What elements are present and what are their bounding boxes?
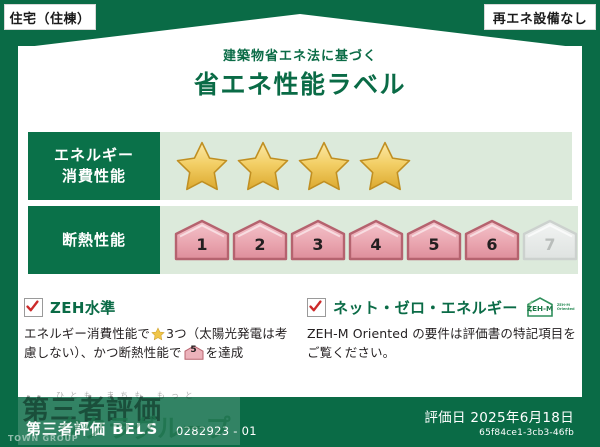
star-icon-filled: [296, 139, 352, 193]
row-label-insulation-line1: 断熱性能: [62, 230, 126, 251]
zeh-body-pre: エネルギー消費性能で: [24, 326, 150, 341]
insulation-grade-3: 3: [290, 219, 346, 261]
row-body-energy: [160, 132, 572, 200]
note-zeh-standard: ZEH水準 エネルギー消費性能で3つ（太陽光発電は考慮しない）、かつ断熱性能で5…: [24, 296, 293, 362]
renewable-energy-tag: 再エネ設備なし: [484, 4, 596, 30]
title-subtitle: 建築物省エネ法に基づく: [18, 48, 582, 66]
house-badge-inline-value: 5: [184, 341, 204, 360]
row-label-energy-line1: エネルギー: [54, 145, 134, 166]
star-icon-filled: [174, 139, 230, 193]
insulation-grade-7: 7: [522, 219, 578, 261]
insulation-grade-6: 6: [464, 219, 520, 261]
note-net-zero-energy: ネット・ゼロ・エネルギー ZEH-M ZEH-M Oriented ZEH-M …: [307, 296, 576, 362]
insulation-grade-4: 4: [348, 219, 404, 261]
insulation-grade-value: 4: [370, 235, 381, 261]
row-energy-performance: エネルギー 消費性能: [28, 132, 572, 200]
zeh-checkbox[interactable]: [24, 298, 43, 317]
note-nze-header: ネット・ゼロ・エネルギー ZEH-M ZEH-M Oriented: [307, 296, 576, 318]
zeh-body-post: を達成: [206, 345, 244, 360]
row-label-energy-line2: 消費性能: [62, 166, 126, 187]
insulation-grade-1: 1: [174, 219, 230, 261]
zeh-m-logo-caption: ZEH-M Oriented: [557, 303, 575, 312]
insulation-grade-5: 5: [406, 219, 462, 261]
star-rating: [174, 139, 413, 193]
zeh-m-logo: ZEH-M ZEH-M Oriented: [525, 296, 575, 318]
nze-body-text: ZEH-M Oriented の要件は評価書の特記項目をご覧ください。: [307, 324, 576, 362]
evaluation-date: 評価日 2025年6月18日: [424, 409, 574, 427]
row-body-insulation: 1234567: [160, 206, 578, 274]
frame-border-right: [582, 0, 600, 447]
evaluation-uuid: 65f84ce1-3cb3-46fb: [424, 427, 574, 439]
note-zeh-header: ZEH水準: [24, 296, 293, 318]
zeh-title: ZEH水準: [50, 297, 116, 318]
house-badge-inline: 5: [184, 345, 204, 360]
insulation-grade-scale: 1234567: [174, 219, 578, 261]
insulation-grade-value: 1: [196, 235, 207, 261]
star-icon-inline: [151, 327, 165, 341]
svg-text:ZEH-M: ZEH-M: [527, 304, 553, 313]
insulation-grade-value: 7: [544, 235, 555, 261]
row-insulation-performance: 断熱性能 1234567: [28, 206, 572, 274]
energy-label-card: 住宅（住棟） 再エネ設備なし 建築物省エネ法に基づく 省エネ性能ラベル エネルギ…: [0, 0, 600, 447]
zeh-m-caption-line2: Oriented: [557, 307, 575, 311]
frame-border-left: [0, 0, 18, 447]
check-icon: [25, 299, 40, 314]
star-icon-filled: [357, 139, 413, 193]
zeh-m-house-icon: ZEH-M: [525, 296, 555, 318]
star-icon-filled: [235, 139, 291, 193]
nze-title: ネット・ゼロ・エネルギー: [333, 297, 518, 318]
insulation-grade-2: 2: [232, 219, 288, 261]
label-title-block: 建築物省エネ法に基づく 省エネ性能ラベル: [18, 48, 582, 102]
insulation-grade-value: 5: [428, 235, 439, 261]
row-label-insulation: 断熱性能: [28, 206, 160, 274]
row-label-energy: エネルギー 消費性能: [28, 132, 160, 200]
bels-number: 0282923 - 01: [176, 423, 257, 439]
insulation-grade-value: 6: [486, 235, 497, 261]
nze-checkbox[interactable]: [307, 298, 326, 317]
footer-left-block: 第三者評価 BELS 0282923 - 01: [26, 421, 257, 439]
insulation-grade-value: 2: [254, 235, 265, 261]
notes-section: ZEH水準 エネルギー消費性能で3つ（太陽光発電は考慮しない）、かつ断熱性能で5…: [24, 296, 576, 362]
zeh-body-text: エネルギー消費性能で3つ（太陽光発電は考慮しない）、かつ断熱性能で5を達成: [24, 324, 293, 362]
building-type-tag: 住宅（住棟）: [4, 4, 96, 30]
rating-rows: エネルギー 消費性能 断熱性能 1234567: [28, 132, 572, 280]
page-title: 省エネ性能ラベル: [18, 68, 582, 102]
check-icon: [308, 299, 323, 314]
footer-right-block: 評価日 2025年6月18日 65f84ce1-3cb3-46fb: [424, 409, 574, 439]
insulation-grade-value: 3: [312, 235, 323, 261]
